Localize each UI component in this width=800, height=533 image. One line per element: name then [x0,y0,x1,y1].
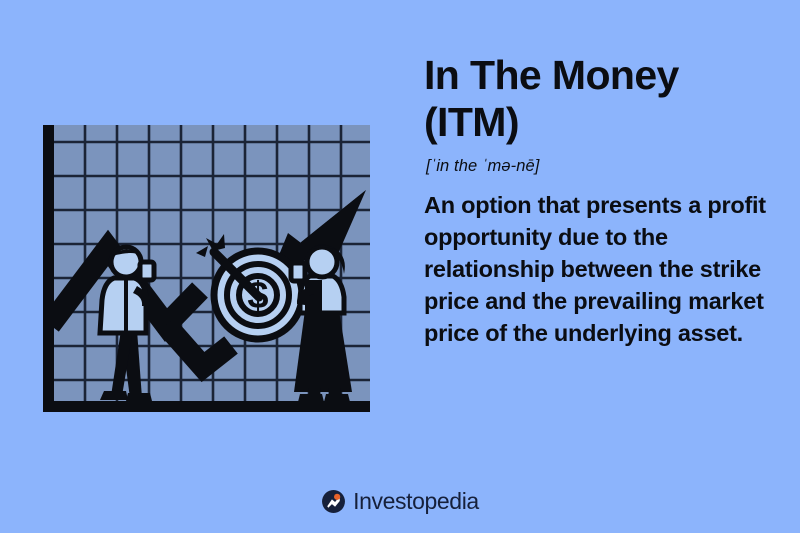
investopedia-logo-icon [321,489,346,514]
term-definition: An option that presents a profit opportu… [424,190,784,349]
illustration-panel: $ [0,0,400,470]
brand-footer: Investopedia [0,488,800,515]
infographic-card: $ [0,0,800,533]
term-title: In The Money (ITM) [424,52,784,146]
brand-name: Investopedia [353,488,479,515]
definition-panel: In The Money (ITM) [ˈin the ˈmə-nē] An o… [424,52,784,349]
term-pronunciation: [ˈin the ˈmə-nē] [426,157,784,176]
market-chart-illustration: $ [0,0,400,470]
